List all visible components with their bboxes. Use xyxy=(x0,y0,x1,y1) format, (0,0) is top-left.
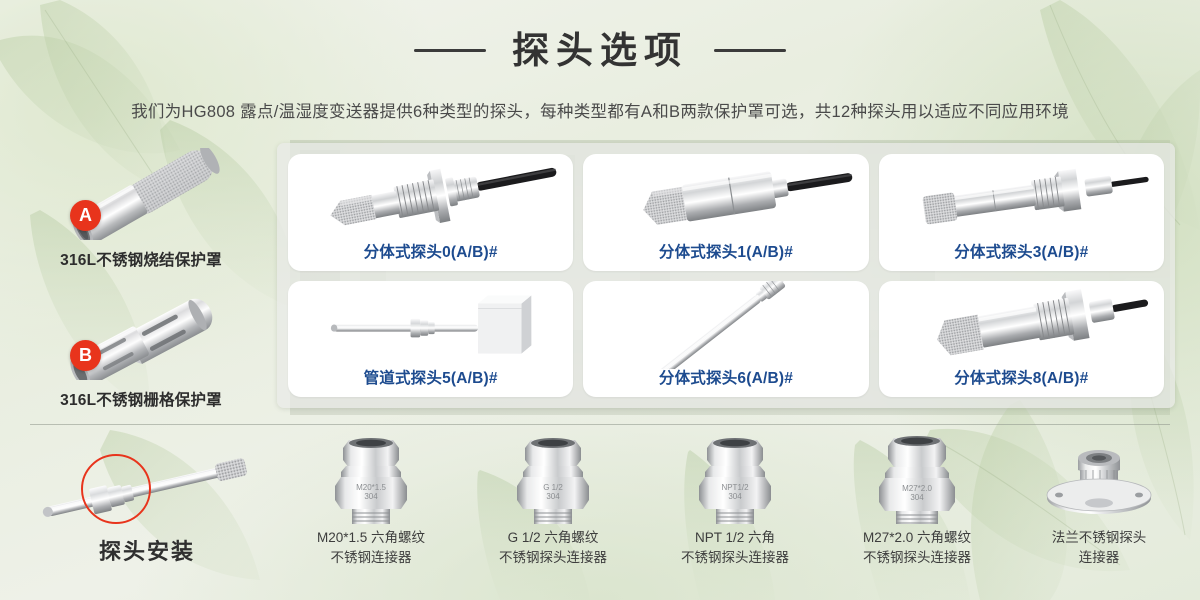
probe-options-panel: 分体式探头0(A/B)# xyxy=(277,143,1175,408)
hex-connector-m20-icon: M20*1.5 304 xyxy=(280,436,462,524)
grid-shroud-icon xyxy=(18,288,264,380)
probe-card-5[interactable]: 管道式探头5(A/B)# xyxy=(288,281,573,398)
probe-caption-0: 分体式探头0(A/B)# xyxy=(364,240,498,271)
connector-caption-flange: 法兰不锈钢探头 连接器 xyxy=(1052,528,1147,569)
shroud-item-b: B 316L不锈钢栅格保护罩 xyxy=(18,288,264,410)
connector-engraving-g12: G 1/2 xyxy=(543,483,563,492)
connector-caption-m27: M27*2.0 六角螺纹 不锈钢探头连接器 xyxy=(863,528,971,569)
shroud-label-b: 316L不锈钢栅格保护罩 xyxy=(18,388,264,410)
probe-caption-6: 分体式探头6(A/B)# xyxy=(659,366,793,397)
connector-engraving-npt12: NPT1/2 xyxy=(721,483,749,492)
title-rule-left xyxy=(414,49,486,52)
shroud-badge-b: B xyxy=(70,340,101,371)
connector-line2-m20: 不锈钢连接器 xyxy=(317,548,425,568)
connector-engraving2-m27: 304 xyxy=(910,493,924,502)
connector-caption-m20: M20*1.5 六角螺纹 不锈钢连接器 xyxy=(317,528,425,569)
shroud-badge-a: A xyxy=(70,200,101,231)
connector-item-flange[interactable]: 法兰不锈钢探头 连接器 xyxy=(1008,436,1190,586)
page-subtitle: 我们为HG808 露点/温湿度变送器提供6种类型的探头，每种类型都有A和B两款保… xyxy=(0,98,1200,122)
probe-1-icon xyxy=(583,154,868,243)
title-rule-right xyxy=(714,49,786,52)
page-title: 探头选项 xyxy=(512,32,688,69)
section-divider xyxy=(30,424,1170,425)
connector-line2-m27: 不锈钢探头连接器 xyxy=(863,548,971,568)
installation-label: 探头安装 xyxy=(22,534,272,566)
installation-block: 探头安装 xyxy=(22,436,272,566)
probe-card-1[interactable]: 分体式探头1(A/B)# xyxy=(583,154,868,271)
page-header: 探头选项 xyxy=(0,32,1200,69)
connector-line1-flange: 法兰不锈钢探头 xyxy=(1052,530,1147,545)
connector-engraving2-m20: 304 xyxy=(364,492,378,501)
connector-caption-g12: G 1/2 六角螺纹 不锈钢探头连接器 xyxy=(499,528,607,569)
probe-5-icon xyxy=(288,281,573,370)
hex-connector-g12-icon: G 1/2 304 xyxy=(462,436,644,524)
probe-rod-highlight-icon xyxy=(22,436,272,530)
probe-card-3[interactable]: 分体式探头3(A/B)# xyxy=(879,154,1164,271)
connector-item-m27[interactable]: M27*2.0 304 M27*2.0 六角螺纹 不锈钢探头连接器 xyxy=(826,436,1008,586)
probe-caption-3: 分体式探头3(A/B)# xyxy=(954,240,1088,271)
flange-connector-icon xyxy=(1008,436,1190,524)
probe-card-0[interactable]: 分体式探头0(A/B)# xyxy=(288,154,573,271)
probe-card-6[interactable]: 分体式探头6(A/B)# xyxy=(583,281,868,398)
probe-card-8[interactable]: 分体式探头8(A/B)# xyxy=(879,281,1164,398)
connector-item-g12[interactable]: G 1/2 304 G 1/2 六角螺纹 不锈钢探头连接器 xyxy=(462,436,644,586)
hex-connector-m27-icon: M27*2.0 304 xyxy=(826,436,1008,524)
connector-engraving-m20: M20*1.5 xyxy=(356,483,386,492)
probe-caption-8: 分体式探头8(A/B)# xyxy=(954,366,1088,397)
probe-3-icon xyxy=(879,154,1164,243)
shroud-label-a: 316L不锈钢烧结保护罩 xyxy=(18,248,264,270)
shroud-item-a: A 316L不锈钢烧结保护罩 xyxy=(18,148,264,270)
sintered-shroud-icon xyxy=(18,148,264,240)
connector-item-npt12[interactable]: NPT1/2 304 NPT 1/2 六角 不锈钢探头连接器 xyxy=(644,436,826,586)
connector-line1-m20: M20*1.5 六角螺纹 xyxy=(317,530,425,545)
connector-engraving2-g12: 304 xyxy=(546,492,560,501)
probe-8-icon xyxy=(879,281,1164,370)
connector-engraving-m27: M27*2.0 xyxy=(902,484,932,493)
hex-connector-npt12-icon: NPT1/2 304 xyxy=(644,436,826,524)
probe-6-icon xyxy=(583,281,868,370)
connector-line1-m27: M27*2.0 六角螺纹 xyxy=(863,530,971,545)
connector-engraving2-npt12: 304 xyxy=(728,492,742,501)
connector-item-m20[interactable]: M20*1.5 304 M20*1.5 六角螺纹 不锈钢连接器 xyxy=(280,436,462,586)
probe-caption-5: 管道式探头5(A/B)# xyxy=(364,366,498,397)
connector-list: M20*1.5 304 M20*1.5 六角螺纹 不锈钢连接器 xyxy=(280,436,1190,586)
probe-0-icon xyxy=(288,154,573,243)
connector-caption-npt12: NPT 1/2 六角 不锈钢探头连接器 xyxy=(681,528,789,569)
probe-caption-1: 分体式探头1(A/B)# xyxy=(659,240,793,271)
connector-line2-g12: 不锈钢探头连接器 xyxy=(499,548,607,568)
connector-line2-flange: 连接器 xyxy=(1052,548,1147,568)
connector-line1-g12: G 1/2 六角螺纹 xyxy=(508,530,599,545)
connector-line2-npt12: 不锈钢探头连接器 xyxy=(681,548,789,568)
connector-line1-npt12: NPT 1/2 六角 xyxy=(695,530,775,545)
